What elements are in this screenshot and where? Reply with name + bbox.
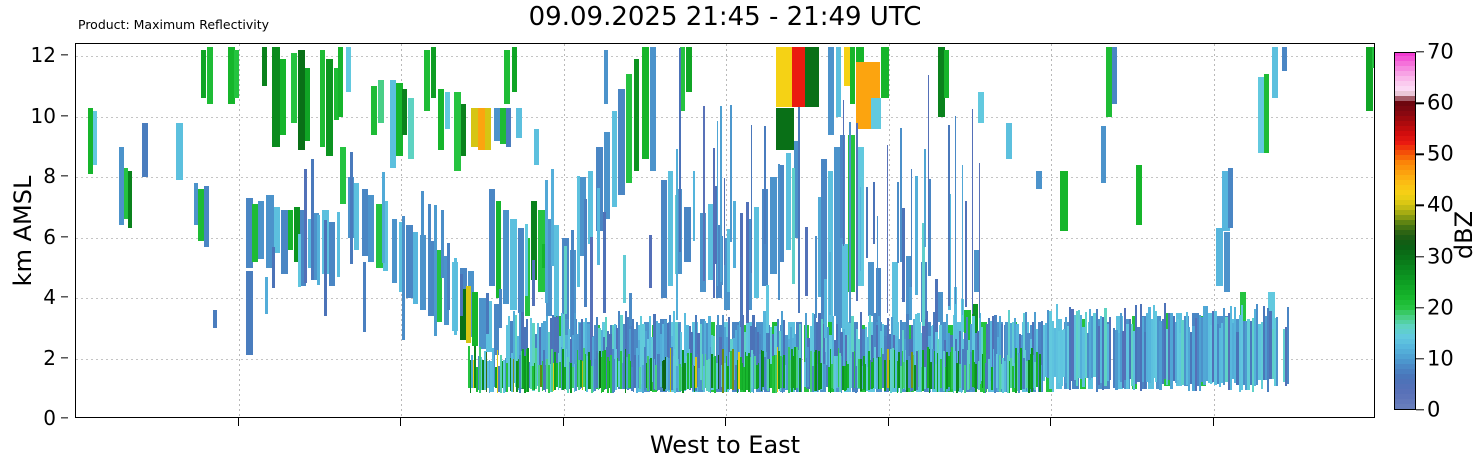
radar-segment [873,182,875,244]
radar-column [1148,44,1150,417]
radar-column [1372,44,1375,417]
colorbar-tick-mark-20 [1416,307,1424,308]
radar-segment [176,123,183,180]
y-tick-mark-6 [61,236,68,237]
radar-segment [965,201,967,308]
radar-column [128,44,132,417]
radar-column [93,44,97,417]
radar-column [894,44,896,417]
radar-segment [499,289,502,327]
colorbar-label-container: dBZ [1447,150,1481,320]
radar-column [935,44,938,417]
y-tick-label-2: 2 [43,348,56,368]
radar-column [382,44,385,417]
radar-segment [724,178,726,265]
radar-column [1181,44,1183,417]
radar-column [577,44,580,417]
radar-column [525,44,528,417]
x-tick-mark [400,418,401,426]
product-label: Product: Maximum Reflectivity [78,17,269,32]
radar-column [337,44,340,417]
radar-segment [535,348,537,389]
y-tick-mark-10 [61,115,68,116]
radar-segment [513,359,515,392]
radar-column [988,44,990,417]
radar-column [730,44,732,417]
colorbar-tick-label-10: 10 [1427,348,1454,369]
radar-column [676,44,678,417]
radar-column [965,44,967,417]
radar-segment [201,50,206,98]
radar-column [486,44,489,417]
radar-column [764,44,766,417]
radar-column [298,44,301,417]
radar-column [441,44,444,417]
radar-segment [884,360,886,391]
radar-segment [577,176,580,287]
radar-segment [402,216,405,340]
radar-segment [128,171,132,228]
x-tick-mark [563,418,564,426]
radar-column [843,44,845,417]
radar-segment [1004,361,1006,392]
colorbar-tick-label-0: 0 [1427,400,1440,421]
y-tick-mark-12 [61,54,68,55]
y-tick-mark-2 [61,357,68,358]
radar-column [584,44,587,417]
radar-column [288,44,293,417]
radar-column [792,44,795,417]
radar-column [363,44,366,417]
radar-column [324,44,327,417]
radar-column [535,44,537,417]
radar-column [866,44,868,417]
radar-column [751,44,753,417]
radar-column [265,44,268,417]
radar-segment [441,210,444,278]
colorbar-tick-mark-30 [1416,256,1424,257]
radar-segment [649,235,652,288]
radar-column [720,44,722,417]
radar-column [545,44,548,417]
radar-column [785,44,787,417]
radar-segment [805,227,808,296]
y-tick-label-0: 0 [43,408,56,428]
radar-segment [897,182,899,263]
radar-column [955,44,957,417]
radar-segment [1148,307,1150,382]
y-tick-label-12: 12 [31,45,56,65]
radar-column [1041,44,1043,417]
radar-segment [194,183,198,225]
radar-segment [727,229,730,292]
radar-segment [142,123,148,177]
y-axis-ticks: 024681012 [0,43,68,418]
radar-column [213,44,217,417]
radar-segment [584,199,587,307]
radar-segment [629,293,632,326]
radar-column [176,44,183,417]
radar-column [142,44,148,417]
radar-column [897,44,899,417]
radar-column [499,44,502,417]
radar-segment [733,201,736,268]
radar-column [972,44,974,417]
radar-column [798,44,800,417]
radar-column [741,44,743,417]
radar-column [326,44,333,417]
radar-segment [1276,317,1278,387]
colorbar-tick-mark-10 [1416,358,1424,359]
y-tick-label-4: 4 [43,287,56,307]
radar-segment [93,111,97,165]
radar-column [778,44,780,417]
colorbar-tick-mark-70 [1416,51,1424,52]
radar-segment [815,236,817,318]
y-tick-label-6: 6 [43,227,56,247]
radar-segment [371,86,377,134]
colorbar-tick-label-70: 70 [1427,42,1454,63]
radar-column [454,44,457,417]
radar-segment [311,159,314,280]
radar-column [434,44,437,417]
radar-column [713,44,715,417]
radar-column [829,44,831,417]
colorbar-label: dBZ [1450,211,1478,259]
radar-column [629,44,632,417]
radar-segment [639,367,641,389]
radar-column [717,44,719,417]
radar-segment [392,219,397,283]
radar-column [662,44,665,417]
radar-segment [317,215,320,285]
radar-column [679,44,681,417]
y-tick-label-10: 10 [31,106,56,126]
radar-segment [324,220,327,316]
radar-column [1004,44,1006,417]
radar-segment [703,106,705,281]
radar-column [900,44,902,417]
x-axis-label: West to East [75,430,1375,460]
radar-segment [877,216,879,320]
radar-column [703,44,705,417]
radar-segment [928,75,930,239]
radar-segment [713,148,715,298]
radar-segment [298,234,301,287]
colorbar-tick-mark-60 [1416,102,1424,103]
radar-column [421,44,424,417]
radar-column [979,44,981,417]
radar-segment [447,243,450,309]
radar-segment [272,247,275,287]
radar-segment [730,105,732,242]
radar-segment [972,109,974,314]
radar-segment [304,169,307,283]
radar-segment [551,169,554,265]
radar-segment [720,106,722,282]
radar-segment [421,191,424,266]
radar-segment [590,237,593,337]
radar-column [698,44,700,417]
radar-segment [915,176,918,295]
radar-segment [902,208,905,302]
radar-column [1195,44,1197,417]
radar-column [902,44,905,417]
radar-column [915,44,918,417]
radar-column [402,44,405,417]
radar-column [513,44,515,417]
radar-column [884,44,886,417]
radar-segment [676,149,678,319]
radar-segment [741,257,743,326]
radar-column [564,44,567,417]
radar-segment [962,165,964,315]
radar-segment [955,116,957,304]
x-tick-mark [238,418,239,426]
radar-column [911,44,913,417]
radar-segment [1109,317,1111,379]
radar-segment [623,255,626,302]
radar-segment [1206,306,1208,380]
radar-column [746,44,749,417]
radar-segment [406,225,413,298]
radar-segment [935,279,938,333]
radar-column [272,44,275,417]
radar-segment [525,224,528,296]
radar-column [727,44,730,417]
radar-segment [532,260,535,306]
radar-segment [597,188,600,265]
radar-segment [213,310,217,328]
radar-column [428,44,431,417]
radar-column [924,44,926,417]
y-tick-mark-8 [61,175,68,176]
x-tick-mark [1050,418,1051,426]
radar-column [818,44,821,417]
radar-column [815,44,817,417]
radar-segment [460,274,463,316]
colorbar-tick-mark-50 [1416,154,1424,155]
radar-column [532,44,535,417]
radar-segment [911,169,913,286]
radar-segment [849,122,851,323]
radar-column [354,44,359,417]
radar-segment [363,262,366,332]
radar-column [447,44,450,417]
radar-segment [785,365,787,389]
radar-segment [843,100,845,246]
radar-segment [679,48,681,252]
radar-column [693,44,695,417]
radar-column [649,44,652,417]
radar-segment [792,168,795,285]
radar-segment [603,212,606,313]
radar-column [805,44,808,417]
radar-segment [948,125,950,306]
radar-column [873,44,875,417]
radar-segment [924,149,926,247]
radar-segment [571,230,574,326]
colorbar-tick-mark-40 [1416,205,1424,206]
radar-column [392,44,397,417]
radar-column [724,44,726,417]
radar-column [948,44,950,417]
radar-segment [1372,47,1375,68]
radar-column [460,44,463,417]
x-tick-mark [725,418,726,426]
radar-column [824,44,827,417]
radar-segment [1041,365,1043,390]
radar-segment [1195,318,1197,391]
radar-column [590,44,593,417]
radar-segment [545,180,548,303]
radar-segment [428,204,431,299]
radar-column [1109,44,1111,417]
radar-column [371,44,377,417]
colorbar-tick-label-60: 60 [1427,93,1454,114]
radar-column [962,44,964,417]
radar-column [406,44,413,417]
radar-segment [856,123,858,302]
radar-column [201,44,206,417]
radar-segment [894,350,896,387]
radar-column [1287,44,1289,417]
radar-column [887,44,889,417]
radar-segment [288,210,293,249]
y-tick-mark-0 [61,417,68,418]
radar-segment [454,258,457,335]
radar-column [350,44,353,417]
y-tick-mark-4 [61,296,68,297]
radar-column [860,44,862,417]
radar-segment [337,212,340,277]
radar-column [1276,44,1278,417]
x-tick-mark [888,418,889,426]
radar-segment [824,279,827,339]
radar-segment [265,277,268,314]
radar-segment [887,145,889,314]
radar-column [551,44,554,417]
radar-column [849,44,851,417]
radar-column [597,44,600,417]
radar-segment [413,232,418,305]
radar-column [413,44,418,417]
radar-segment [988,359,990,390]
page-title: 09.09.2025 21:45 - 21:49 UTC [75,2,1375,32]
radar-segment [866,187,868,259]
radar-segment [350,152,353,264]
radar-column [317,44,320,417]
radar-segment [798,107,800,313]
radar-segment [860,187,862,271]
radar-column [639,44,641,417]
radar-column [1206,44,1208,417]
radar-segment [751,125,753,272]
radar-column [571,44,574,417]
radar-column [234,44,239,417]
radar-segment [662,242,665,290]
radar-column [603,44,606,417]
radar-segment [280,59,286,135]
radar-column [280,44,286,417]
radar-segment [746,202,749,323]
radar-column [311,44,314,417]
radar-column [1155,44,1157,417]
radar-segment [564,246,567,314]
x-tick-mark [1213,418,1214,426]
radar-segment [382,172,385,263]
radar-segment [486,293,489,334]
radar-segment [693,171,695,241]
radar-segment [1181,320,1183,386]
radar-column [194,44,198,417]
radar-segment [717,121,719,285]
colorbar-tick-mark-0 [1416,409,1424,410]
radar-segment [979,163,981,317]
radar-column [877,44,879,417]
radar-segment [764,126,766,243]
radar-segment [698,368,700,393]
radar-segment [354,183,359,250]
radar-segment [234,50,239,98]
radar-column [623,44,626,417]
radar-segment [829,252,831,314]
radar-segment [434,205,437,336]
radar-segment [778,164,780,300]
radar-column [733,44,736,417]
radar-column [856,44,858,417]
radar-column [928,44,930,417]
plot-area [75,43,1375,418]
radar-segment [1155,311,1157,382]
radar-segment [818,197,821,297]
radar-segment [1287,307,1289,384]
radar-segment [326,59,333,156]
y-tick-label-8: 8 [43,166,56,186]
radar-segment [900,128,902,262]
radar-column [304,44,307,417]
radar-cross-section-figure: 09.09.2025 21:45 - 21:49 UTC Product: Ma… [0,0,1482,470]
